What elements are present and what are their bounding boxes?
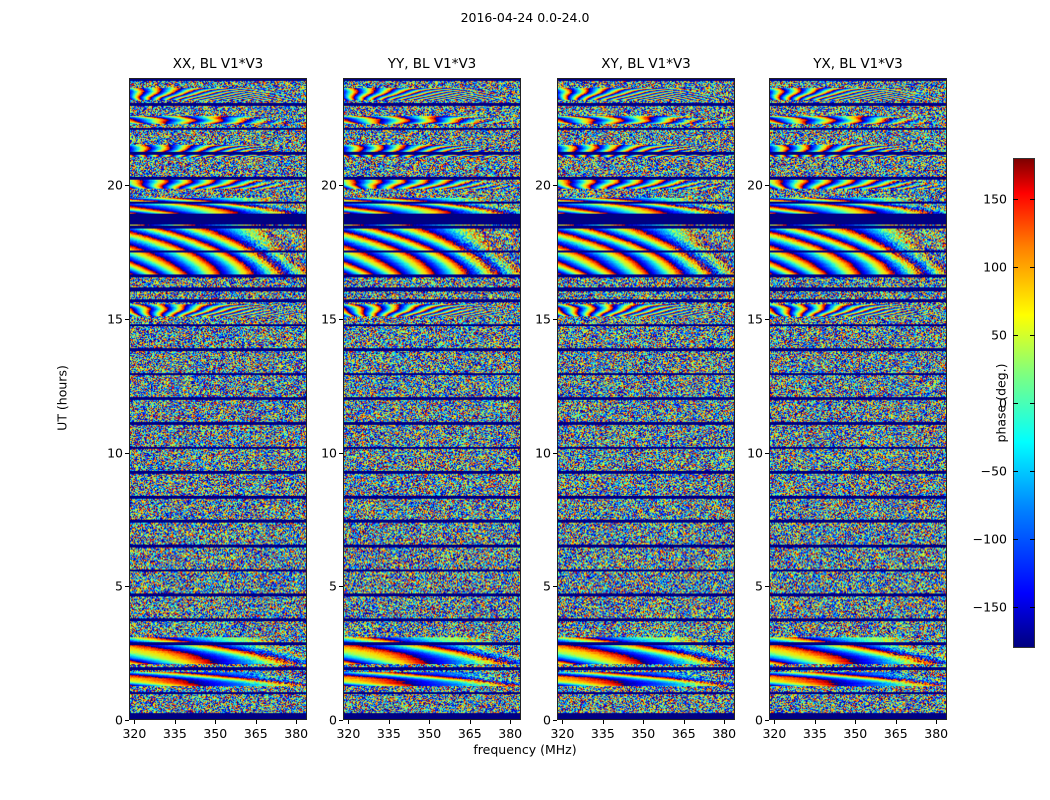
xtick-mark-yx bbox=[774, 720, 775, 724]
colorbar-tick-mark bbox=[1013, 607, 1018, 608]
colorbar-tick-mark bbox=[1030, 607, 1035, 608]
xtick-mark-yx bbox=[936, 720, 937, 724]
xtick-mark-xy bbox=[684, 720, 685, 724]
figure-suptitle: 2016-04-24 0.0-24.0 bbox=[0, 10, 1050, 25]
xtick-label-yy: 335 bbox=[377, 726, 401, 741]
plot-area-yy[interactable] bbox=[343, 78, 521, 720]
ytick-mark-yy bbox=[339, 319, 343, 320]
xtick-mark-xx bbox=[175, 720, 176, 724]
xtick-mark-xy bbox=[603, 720, 604, 724]
colorbar-tick-mark bbox=[1030, 471, 1035, 472]
panel-title-yy: YY, BL V1*V3 bbox=[343, 56, 521, 72]
ytick-mark-yx bbox=[765, 720, 769, 721]
ytick-mark-yy bbox=[339, 185, 343, 186]
plot-area-xx[interactable] bbox=[129, 78, 307, 720]
xtick-label-yx: 335 bbox=[803, 726, 827, 741]
ytick-mark-xy bbox=[553, 185, 557, 186]
ytick-mark-yy bbox=[339, 720, 343, 721]
colorbar-tick-mark bbox=[1013, 267, 1018, 268]
panel-title-xy: XY, BL V1*V3 bbox=[557, 56, 735, 72]
ytick-mark-xx bbox=[125, 453, 129, 454]
xtick-label-yx: 380 bbox=[924, 726, 948, 741]
colorbar-tick-mark bbox=[1013, 199, 1018, 200]
xtick-mark-yx bbox=[815, 720, 816, 724]
xtick-mark-yy bbox=[470, 720, 471, 724]
colorbar-tick-label: 50 bbox=[991, 327, 1007, 342]
xtick-label-xy: 335 bbox=[591, 726, 615, 741]
xtick-label-yy: 320 bbox=[336, 726, 360, 741]
ytick-label-yx: 5 bbox=[755, 579, 763, 594]
colorbar-tick-mark bbox=[1013, 335, 1018, 336]
ytick-mark-xy bbox=[553, 586, 557, 587]
ytick-mark-yx bbox=[765, 453, 769, 454]
xtick-label-xx: 320 bbox=[122, 726, 146, 741]
xtick-label-yy: 365 bbox=[458, 726, 482, 741]
ytick-label-xy: 10 bbox=[535, 445, 551, 460]
panel-xy: XY, BL V1*V3 05101520320335350365380 bbox=[557, 78, 735, 720]
colorbar-tick-mark bbox=[1013, 403, 1018, 404]
colorbar-tick-mark bbox=[1013, 471, 1018, 472]
y-axis-label: UT (hours) bbox=[55, 365, 70, 431]
xtick-label-xy: 365 bbox=[672, 726, 696, 741]
panel-yy: YY, BL V1*V3 05101520320335350365380 bbox=[343, 78, 521, 720]
xtick-label-xy: 380 bbox=[712, 726, 736, 741]
xtick-mark-xy bbox=[562, 720, 563, 724]
colorbar-tick-mark bbox=[1030, 199, 1035, 200]
ytick-label-yy: 20 bbox=[321, 178, 337, 193]
colorbar-tick-label: −100 bbox=[973, 532, 1007, 547]
panel-yx: YX, BL V1*V3 05101520320335350365380 bbox=[769, 78, 947, 720]
xtick-label-yy: 350 bbox=[417, 726, 441, 741]
panel-xx: XX, BL V1*V3 05101520320335350365380 bbox=[129, 78, 307, 720]
ytick-mark-xx bbox=[125, 720, 129, 721]
ytick-mark-yy bbox=[339, 453, 343, 454]
ytick-label-xx: 20 bbox=[107, 178, 123, 193]
colorbar-tick-mark bbox=[1030, 403, 1035, 404]
plot-area-xy[interactable] bbox=[557, 78, 735, 720]
ytick-label-xx: 15 bbox=[107, 311, 123, 326]
colorbar-tick-mark bbox=[1030, 539, 1035, 540]
ytick-label-yx: 20 bbox=[747, 178, 763, 193]
ytick-label-xy: 20 bbox=[535, 178, 551, 193]
xtick-mark-yy bbox=[389, 720, 390, 724]
xtick-label-xx: 335 bbox=[163, 726, 187, 741]
xtick-mark-yy bbox=[348, 720, 349, 724]
xtick-mark-xx bbox=[296, 720, 297, 724]
ytick-mark-yy bbox=[339, 586, 343, 587]
xtick-label-xy: 350 bbox=[631, 726, 655, 741]
colorbar-tick-label: 150 bbox=[983, 191, 1007, 206]
xtick-label-xy: 320 bbox=[550, 726, 574, 741]
colorbar-tick-mark bbox=[1030, 335, 1035, 336]
colorbar[interactable]: 150100500−50−100−150 bbox=[1013, 158, 1035, 648]
xtick-label-yx: 350 bbox=[843, 726, 867, 741]
xtick-label-xx: 365 bbox=[244, 726, 268, 741]
ytick-mark-xx bbox=[125, 319, 129, 320]
colorbar-tick-label: −50 bbox=[981, 464, 1007, 479]
xtick-mark-yx bbox=[896, 720, 897, 724]
ytick-mark-xy bbox=[553, 720, 557, 721]
colorbar-tick-mark bbox=[1013, 539, 1018, 540]
ytick-label-yy: 15 bbox=[321, 311, 337, 326]
xtick-label-xx: 350 bbox=[203, 726, 227, 741]
ytick-label-yx: 15 bbox=[747, 311, 763, 326]
ytick-label-xx: 5 bbox=[115, 579, 123, 594]
xtick-mark-yx bbox=[855, 720, 856, 724]
xtick-label-yy: 380 bbox=[498, 726, 522, 741]
ytick-mark-xy bbox=[553, 319, 557, 320]
x-axis-label: frequency (MHz) bbox=[0, 742, 1050, 757]
ytick-mark-xy bbox=[553, 453, 557, 454]
colorbar-tick-label: −150 bbox=[973, 600, 1007, 615]
ytick-label-yx: 10 bbox=[747, 445, 763, 460]
xtick-label-yx: 320 bbox=[762, 726, 786, 741]
xtick-mark-yy bbox=[510, 720, 511, 724]
ytick-mark-yx bbox=[765, 319, 769, 320]
ytick-label-xx: 10 bbox=[107, 445, 123, 460]
ytick-mark-xx bbox=[125, 185, 129, 186]
xtick-mark-yy bbox=[429, 720, 430, 724]
xtick-mark-xx bbox=[256, 720, 257, 724]
ytick-mark-yx bbox=[765, 185, 769, 186]
colorbar-tick-mark bbox=[1030, 267, 1035, 268]
ytick-mark-yx bbox=[765, 586, 769, 587]
xtick-mark-xy bbox=[643, 720, 644, 724]
heatmap-canvas-xy bbox=[558, 79, 734, 719]
heatmap-canvas-yy bbox=[344, 79, 520, 719]
panel-title-xx: XX, BL V1*V3 bbox=[129, 56, 307, 72]
xtick-mark-xy bbox=[724, 720, 725, 724]
xtick-label-yx: 365 bbox=[884, 726, 908, 741]
heatmap-canvas-xx bbox=[130, 79, 306, 719]
colorbar-label: phase (deg.) bbox=[994, 364, 1009, 443]
panel-title-yx: YX, BL V1*V3 bbox=[769, 56, 947, 72]
xtick-mark-xx bbox=[134, 720, 135, 724]
phase-waterfall-figure: 2016-04-24 0.0-24.0 UT (hours) frequency… bbox=[0, 0, 1050, 800]
plot-area-yx[interactable] bbox=[769, 78, 947, 720]
ytick-label-yy: 5 bbox=[329, 579, 337, 594]
ytick-label-xy: 5 bbox=[543, 579, 551, 594]
ytick-label-xy: 15 bbox=[535, 311, 551, 326]
heatmap-canvas-yx bbox=[770, 79, 946, 719]
xtick-mark-xx bbox=[215, 720, 216, 724]
ytick-label-yy: 10 bbox=[321, 445, 337, 460]
xtick-label-xx: 380 bbox=[284, 726, 308, 741]
ytick-mark-xx bbox=[125, 586, 129, 587]
colorbar-tick-label: 100 bbox=[983, 259, 1007, 274]
